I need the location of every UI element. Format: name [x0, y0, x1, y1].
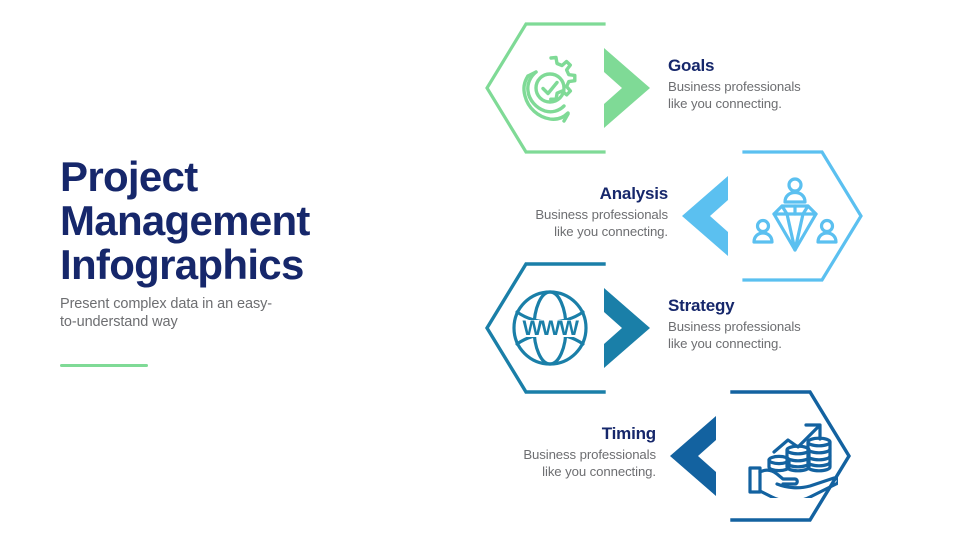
- title-line-3: Infographics: [60, 243, 390, 287]
- www-globe-icon: WWW: [508, 286, 592, 370]
- subtitle-line-2: to-understand way: [60, 313, 390, 331]
- step-timing[interactable]: Timing Business professionals like you c…: [470, 386, 980, 536]
- chevron-right-goals: [600, 46, 656, 130]
- step-title-timing: Timing: [446, 424, 656, 444]
- gear-shield-check-phone-icon: [506, 50, 586, 126]
- subtitle-line-1: Present complex data in an easy-: [60, 295, 390, 313]
- step-desc-line-2: like you connecting.: [668, 96, 782, 111]
- slide-canvas: Project Management Infographics Present …: [0, 0, 980, 551]
- chevron-right-strategy: [600, 286, 656, 370]
- step-desc-line-2: like you connecting.: [668, 336, 782, 351]
- step-desc-line-1: Business professionals: [535, 207, 668, 222]
- step-text-goals: Goals Business professionals like you co…: [668, 56, 878, 112]
- step-desc-goals: Business professionals like you connecti…: [668, 79, 878, 112]
- step-desc-line-1: Business professionals: [668, 79, 801, 94]
- step-text-strategy: Strategy Business professionals like you…: [668, 296, 878, 352]
- chevron-left-analysis: [676, 174, 732, 258]
- accent-rule: [60, 364, 148, 367]
- title-line-1: Project: [60, 155, 390, 199]
- title-line-2: Management: [60, 199, 390, 243]
- subtitle: Present complex data in an easy- to-unde…: [60, 295, 390, 331]
- step-desc-line-2: like you connecting.: [554, 224, 668, 239]
- page-title: Project Management Infographics: [60, 155, 390, 287]
- diamond-team-icon: [752, 176, 838, 256]
- infographic-steps: Goals Business professionals like you co…: [470, 0, 980, 551]
- step-title-analysis: Analysis: [458, 184, 668, 204]
- step-text-timing: Timing Business professionals like you c…: [446, 424, 656, 480]
- step-desc-line-2: like you connecting.: [542, 464, 656, 479]
- step-title-strategy: Strategy: [668, 296, 878, 316]
- step-title-goals: Goals: [668, 56, 878, 76]
- title-block: Project Management Infographics Present …: [60, 155, 390, 367]
- step-desc-line-1: Business professionals: [668, 319, 801, 334]
- step-text-analysis: Analysis Business professionals like you…: [458, 184, 668, 240]
- hand-coins-growth-icon: [744, 414, 838, 498]
- chevron-left-timing: [664, 414, 720, 498]
- step-desc-line-1: Business professionals: [523, 447, 656, 462]
- step-desc-timing: Business professionals like you connecti…: [446, 447, 656, 480]
- step-desc-analysis: Business professionals like you connecti…: [458, 207, 668, 240]
- step-desc-strategy: Business professionals like you connecti…: [668, 319, 878, 352]
